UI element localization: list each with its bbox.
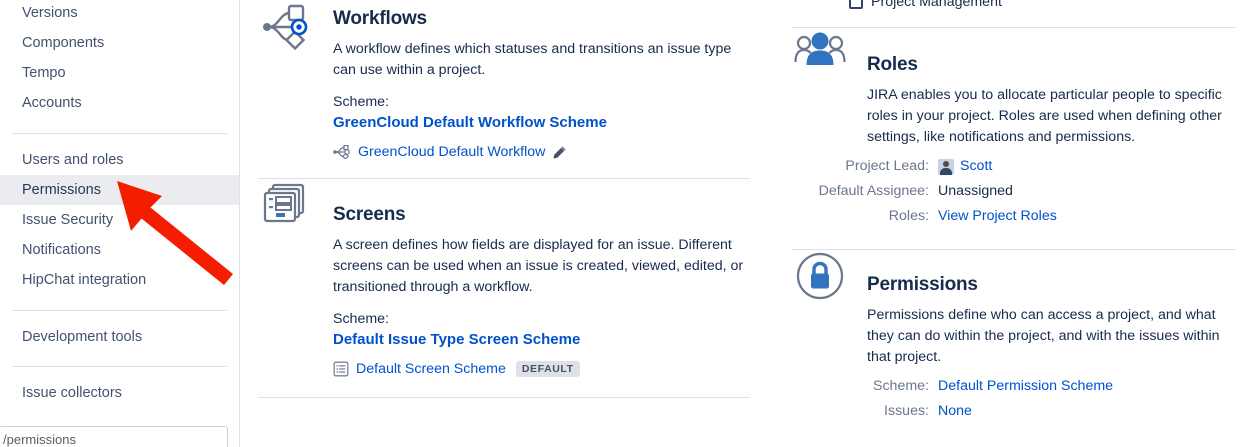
field-row: Default Assignee: Unassigned [792, 179, 1236, 204]
jira-project-settings-screenshot: Versions Components Tempo Accounts Users… [0, 0, 1246, 447]
screen-small-icon [333, 361, 349, 377]
field-value: View Project Roles [938, 204, 1057, 229]
sidebar-item-development-tools[interactable]: Development tools [0, 322, 239, 352]
permission-scheme-link[interactable]: Default Permission Scheme [938, 374, 1113, 399]
sidebar-item-tempo[interactable]: Tempo [0, 58, 239, 88]
field-label: Project Lead: [792, 154, 938, 179]
sidebar-item-notifications[interactable]: Notifications [0, 235, 239, 265]
field-label: Issues: [792, 399, 938, 424]
field-row: Issues: None [792, 399, 1236, 424]
sidebar-item-permissions[interactable]: Permissions [0, 175, 239, 205]
roles-icon [792, 30, 848, 82]
sidebar-item-label: Tempo [22, 65, 66, 81]
sidebar-item-label: Components [22, 35, 104, 51]
checkbox-unchecked-icon[interactable] [849, 0, 863, 9]
status-badge: DEFAULT [516, 361, 580, 377]
sidebar-item-versions[interactable]: Versions [0, 0, 239, 28]
sidebar-item-label: Accounts [22, 95, 82, 111]
section-title: Workflows [333, 8, 750, 30]
sidebar-item-label: Notifications [22, 242, 101, 258]
settings-column-right: Project Management Roles JIRA enables yo… [792, 0, 1236, 424]
section-description: JIRA enables you to allocate particular … [867, 85, 1236, 148]
field-row: Project Lead: Scott [792, 154, 1236, 179]
sidebar-item-label: HipChat integration [22, 272, 146, 288]
workflow-link[interactable]: GreenCloud Default Workflow [358, 142, 545, 162]
sidebar-item-issue-security[interactable]: Issue Security [0, 205, 239, 235]
scheme-label: Scheme: [333, 92, 750, 112]
sidebar-group-4: Issue collectors [0, 367, 239, 408]
sidebar-item-label: Permissions [22, 182, 101, 198]
sidebar-group-1: Versions Components Tempo Accounts [0, 0, 239, 118]
project-lead-link[interactable]: Scott [960, 154, 992, 179]
field-value: Default Permission Scheme [938, 374, 1113, 399]
view-project-roles-link[interactable]: View Project Roles [938, 204, 1057, 229]
workflow-icon [258, 4, 314, 56]
sidebar-item-hipchat-integration[interactable]: HipChat integration [0, 265, 239, 295]
issue-security-link[interactable]: None [938, 399, 972, 424]
section-title: Permissions [867, 274, 1236, 296]
checkbox-label: Project Management [871, 0, 1002, 10]
field-label: Default Assignee: [792, 179, 938, 204]
status-bar-url: /permissions [3, 432, 76, 447]
field-value: Unassigned [938, 179, 1013, 204]
project-settings-sidebar: Versions Components Tempo Accounts Users… [0, 0, 240, 447]
roles-field-list: Project Lead: Scott Default Assignee: Un… [792, 154, 1236, 229]
screen-scheme-link[interactable]: Default Issue Type Screen Scheme [333, 329, 750, 350]
sidebar-group-3: Development tools [0, 311, 239, 352]
sidebar-item-label: Development tools [22, 329, 142, 345]
sidebar-item-label: Users and roles [22, 152, 124, 168]
screen-scheme-item-link[interactable]: Default Screen Scheme [356, 359, 506, 379]
roles-section: Roles JIRA enables you to allocate parti… [792, 28, 1236, 229]
workflow-small-icon [333, 145, 351, 159]
user-avatar [938, 159, 954, 175]
sidebar-item-components[interactable]: Components [0, 28, 239, 58]
settings-column-middle: Workflows A workflow defines which statu… [258, 0, 750, 398]
workflow-item-row: GreenCloud Default Workflow [333, 142, 750, 162]
screen-item-row: Default Screen Scheme DEFAULT [333, 359, 750, 379]
field-row: Roles: View Project Roles [792, 204, 1236, 229]
section-title: Screens [333, 204, 750, 226]
field-row: Scheme: Default Permission Scheme [792, 374, 1236, 399]
project-management-checkbox-row[interactable]: Project Management [792, 0, 1236, 10]
screens-icon [258, 183, 314, 235]
browser-status-bar: /permissions [0, 426, 228, 447]
field-value: Scott [938, 154, 992, 179]
lock-icon [792, 252, 848, 304]
screens-section: Screens A screen defines how fields are … [258, 179, 750, 379]
section-description: A screen defines how fields are displaye… [333, 235, 750, 298]
field-label: Roles: [792, 204, 938, 229]
scheme-label: Scheme: [333, 309, 750, 329]
permissions-field-list: Scheme: Default Permission Scheme Issues… [792, 374, 1236, 424]
pencil-icon[interactable] [552, 145, 567, 160]
sidebar-item-accounts[interactable]: Accounts [0, 88, 239, 118]
sidebar-item-label: Versions [22, 5, 78, 21]
workflows-section: Workflows A workflow defines which statu… [258, 0, 750, 162]
sidebar-item-label: Issue collectors [22, 385, 122, 401]
sidebar-item-label: Issue Security [22, 212, 113, 228]
sidebar-group-2: Users and roles Permissions Issue Securi… [0, 134, 239, 295]
permissions-section: Permissions Permissions define who can a… [792, 250, 1236, 424]
section-divider [258, 397, 750, 398]
sidebar-item-users-and-roles[interactable]: Users and roles [0, 145, 239, 175]
section-description: A workflow defines which statuses and tr… [333, 39, 750, 81]
sidebar-item-issue-collectors[interactable]: Issue collectors [0, 378, 239, 408]
workflow-scheme-link[interactable]: GreenCloud Default Workflow Scheme [333, 112, 750, 133]
field-label: Scheme: [792, 374, 938, 399]
section-description: Permissions define who can access a proj… [867, 305, 1236, 368]
field-value: None [938, 399, 972, 424]
section-title: Roles [867, 54, 1236, 76]
